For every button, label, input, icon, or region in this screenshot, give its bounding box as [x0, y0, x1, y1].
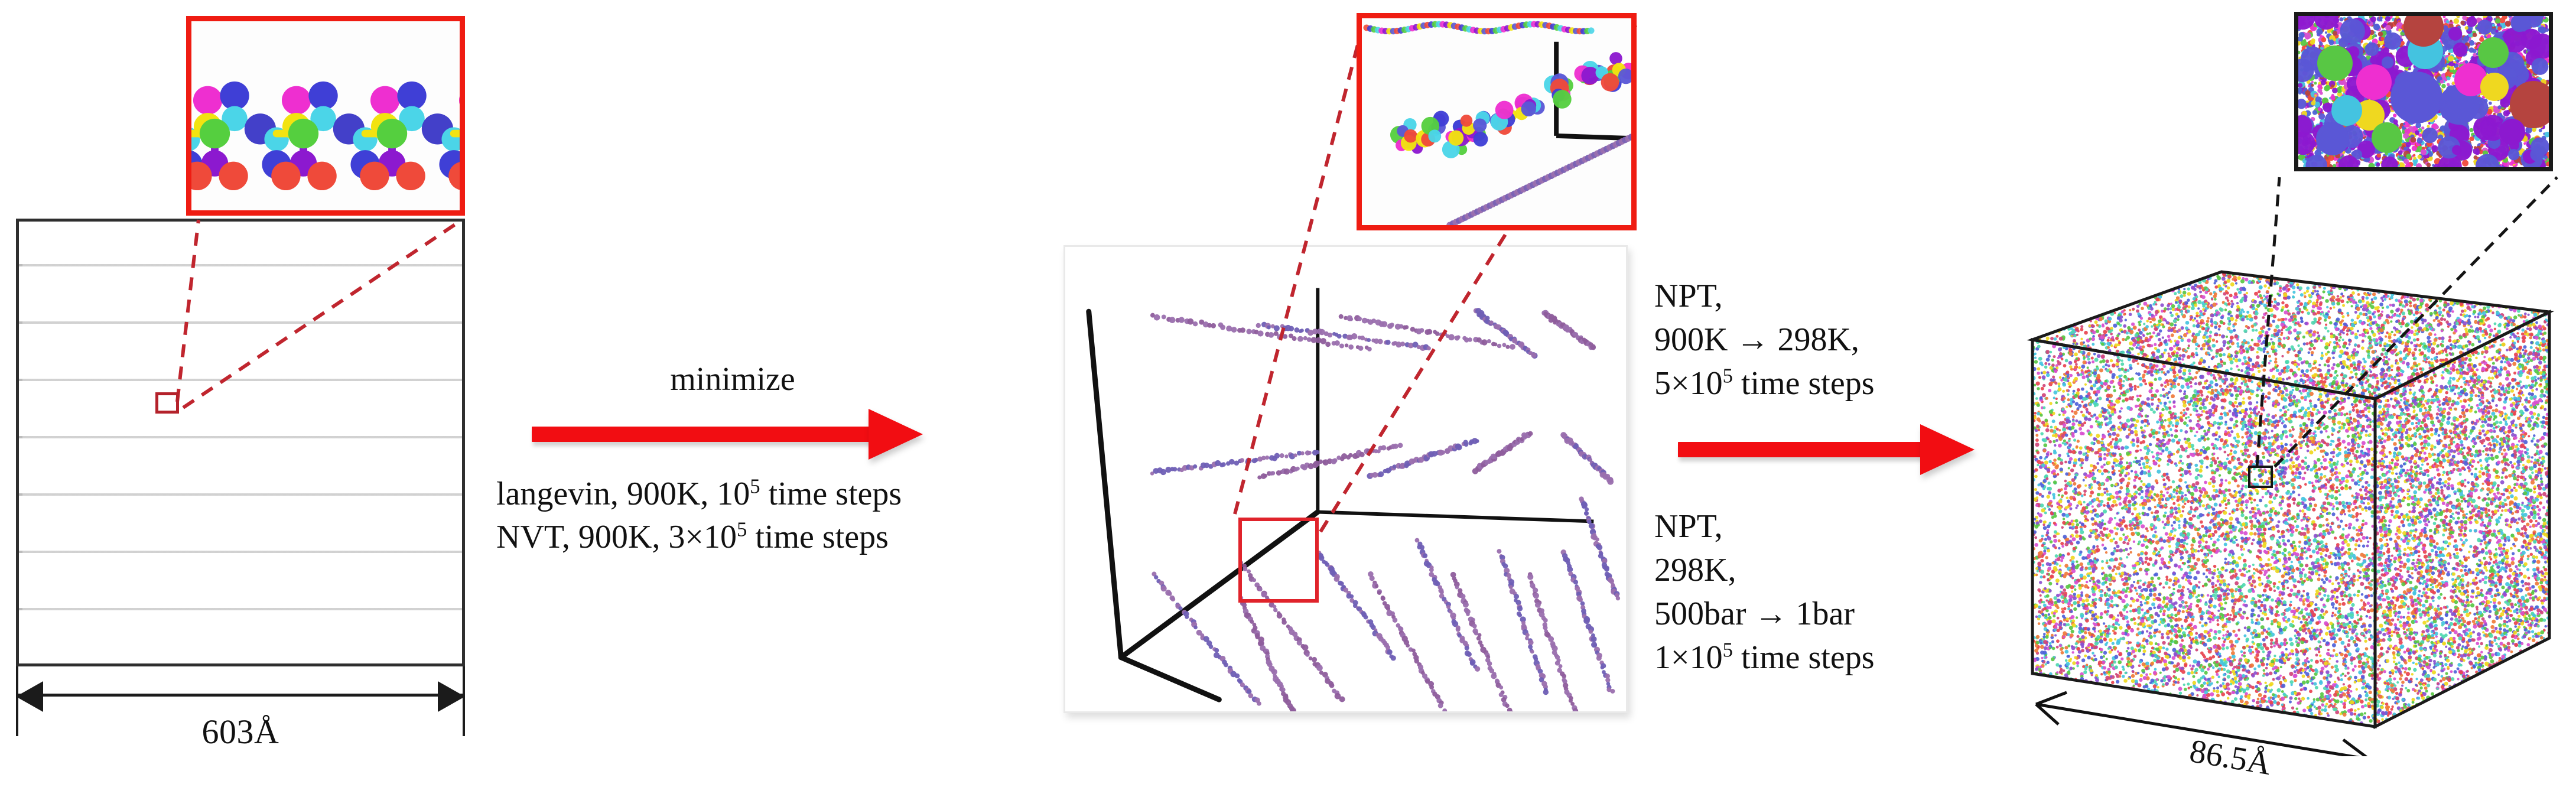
melt-chains-render: [1065, 247, 1626, 711]
red-arrow-1: [508, 398, 957, 469]
npt2-line-1: NPT,: [1654, 505, 2044, 549]
extended-chains-cell: [16, 219, 465, 666]
sub-line-2: NVT, 900K, 3×105 time steps: [496, 516, 981, 559]
cube-render: [1997, 225, 2576, 756]
npt-decompression-text: NPT, 298K, 500bar → 1bar 1×105 time step…: [1654, 505, 2044, 680]
npt-line-3: 5×105 time steps: [1654, 362, 2032, 406]
polymer-melt-cell: [1063, 245, 1628, 713]
space-filling-closeup-inset: [2294, 12, 2553, 171]
melt-callout-square: [1238, 518, 1319, 603]
extended-chain-line: [19, 436, 462, 438]
npt2-line-3: 500bar → 1bar: [1654, 593, 2044, 636]
npt-line-1: NPT,: [1654, 275, 2032, 318]
red-arrow-2: [1654, 414, 2044, 484]
coiled-chain-inset: [1357, 13, 1637, 230]
chains-callout-square: [155, 392, 179, 414]
red-arrow-2-block: [1654, 414, 2044, 484]
sub-line-1: langevin, 900K, 105 time steps: [496, 473, 981, 516]
npt2-line-4: 1×105 time steps: [1654, 636, 2044, 680]
left-dimension-label: 603Å: [16, 712, 465, 752]
figure-canvas: 603Å minimize langevin, 900K, 105 time s…: [0, 0, 2576, 810]
monomer-repeat-unit-inset: [186, 16, 465, 216]
extended-chain-line: [19, 608, 462, 610]
amorphous-cell-cube: [1997, 225, 2576, 756]
extended-chain-line: [19, 551, 462, 553]
npt-line-2: 900K → 298K,: [1654, 318, 2032, 362]
minimize-arrow-block: minimize langevin, 900K, 105 time steps …: [508, 360, 957, 469]
monomer-structure-icon: [191, 21, 460, 210]
space-filling-icon: [2298, 16, 2549, 167]
extended-chain-line: [19, 493, 462, 496]
extended-chain-line: [19, 379, 462, 381]
minimize-sub-lines: langevin, 900K, 105 time steps NVT, 900K…: [496, 473, 981, 559]
npt-cooling-text: NPT, 900K → 298K, 5×105 time steps: [1654, 275, 2032, 406]
extended-chain-line: [19, 264, 462, 266]
minimize-label: minimize: [508, 360, 957, 398]
extended-chain-line: [19, 321, 462, 324]
npt2-line-2: 298K,: [1654, 549, 2044, 593]
cube-callout-square: [2248, 466, 2273, 488]
coiled-chain-icon: [1362, 18, 1631, 225]
